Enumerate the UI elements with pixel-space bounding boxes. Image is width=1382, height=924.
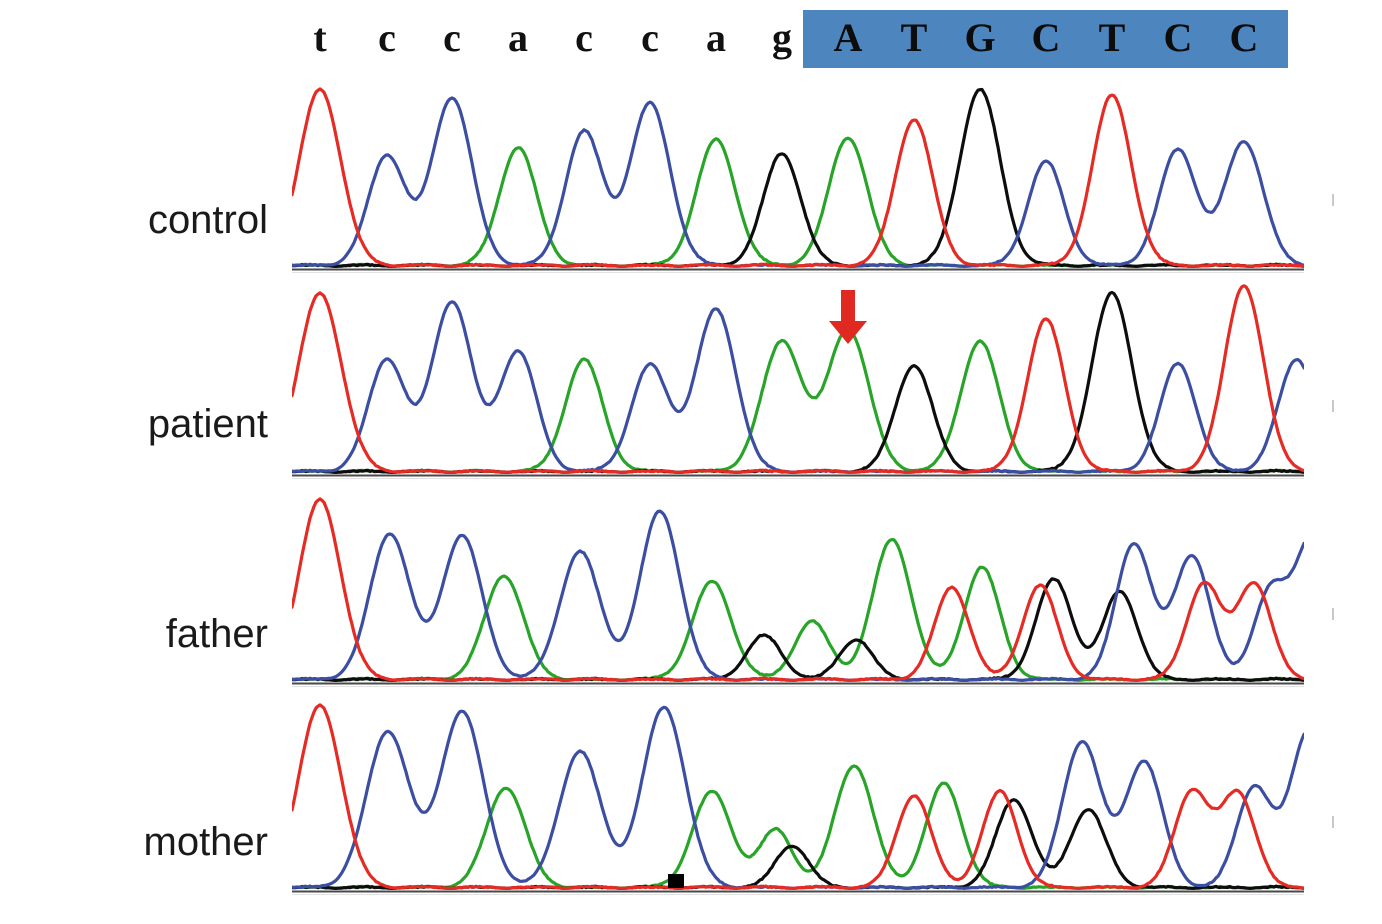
channel-path-1 — [292, 90, 1304, 267]
panel-label-father: father — [0, 612, 268, 656]
edge-tick-mark — [1332, 608, 1334, 620]
chromatogram-control — [292, 78, 1304, 272]
channel-path-0 — [292, 540, 1304, 681]
sequence-letter-3: a — [495, 14, 541, 62]
sequence-letter-4: c — [561, 14, 607, 62]
channel-path-2 — [292, 98, 1304, 266]
edge-tick-mark — [1332, 194, 1334, 206]
sequence-letter-0: t — [297, 14, 343, 62]
panel-separator — [292, 478, 1304, 479]
channel-path-1 — [292, 579, 1304, 681]
sequence-letter-9: T — [891, 14, 937, 62]
sequence-letter-1: c — [364, 14, 410, 62]
sequence-letter-10: G — [957, 14, 1003, 62]
sequence-letter-7: g — [759, 14, 805, 62]
edge-tick-mark — [1332, 400, 1334, 412]
panel-separator — [292, 686, 1304, 687]
panel-label-control: control — [0, 198, 268, 242]
edge-tick-mark — [1332, 816, 1334, 828]
trace-panel-patient: patient — [0, 284, 1382, 480]
chromatogram-patient — [292, 284, 1304, 478]
sequence-letter-11: C — [1023, 14, 1069, 62]
mutation-arrow — [826, 290, 870, 351]
trace-svg-patient — [292, 284, 1304, 478]
chromatogram-father — [292, 492, 1304, 686]
trace-svg-father — [292, 492, 1304, 686]
sequence-letter-14: C — [1221, 14, 1267, 62]
baseline-black-artifact — [668, 874, 684, 888]
sequence-letter-8: A — [825, 14, 871, 62]
trace-panel-father: father — [0, 492, 1382, 688]
figure-canvas: tccaccagATGCTCC controlpatientfathermoth… — [0, 0, 1382, 924]
panel-separator — [292, 272, 1304, 273]
sequence-header-row: tccaccagATGCTCC — [0, 0, 1382, 78]
sequence-letter-13: C — [1155, 14, 1201, 62]
arrow-down-icon — [826, 290, 870, 346]
trace-panel-mother: mother — [0, 700, 1382, 896]
channel-path-2 — [292, 511, 1304, 680]
chromatogram-mother — [292, 700, 1304, 894]
channel-path-1 — [292, 800, 1304, 889]
sequence-letter-6: a — [693, 14, 739, 62]
sequence-letter-2: c — [429, 14, 475, 62]
arrow-shape — [829, 290, 867, 344]
sequence-letter-12: T — [1089, 14, 1135, 62]
sequence-letter-5: c — [627, 14, 673, 62]
panel-label-patient: patient — [0, 402, 268, 446]
trace-svg-control — [292, 78, 1304, 272]
trace-svg-mother — [292, 700, 1304, 894]
channel-path-0 — [292, 766, 1304, 888]
trace-panel-control: control — [0, 78, 1382, 274]
panel-separator — [292, 894, 1304, 895]
panel-label-mother: mother — [0, 820, 268, 864]
